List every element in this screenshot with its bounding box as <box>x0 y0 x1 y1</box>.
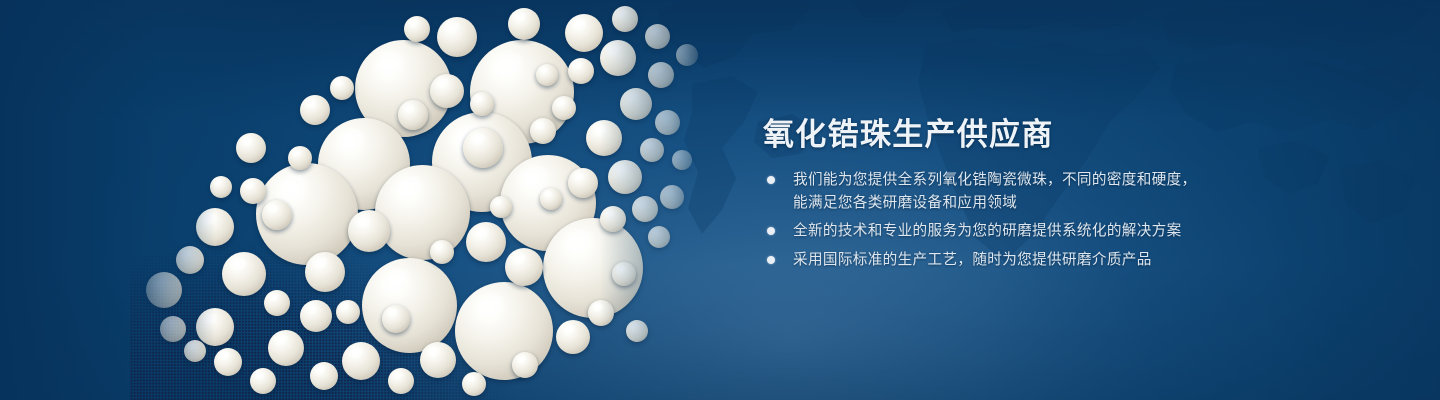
bullet-dot-icon <box>767 227 775 235</box>
list-item-line: 全新的技术和专业的服务为您的研磨提供系统化的解决方案 <box>793 221 1403 243</box>
page-title: 氧化锆珠生产供应商 <box>763 109 1054 154</box>
list-item: 采用国际标准的生产工艺，随时为您提供研磨介质产品 <box>763 250 1403 272</box>
list-item: 全新的技术和专业的服务为您的研磨提供系统化的解决方案 <box>763 221 1403 243</box>
list-item-line: 采用国际标准的生产工艺，随时为您提供研磨介质产品 <box>793 250 1403 272</box>
feature-list: 我们能为您提供全系列氧化锆陶瓷微珠，不同的密度和硬度， 能满足您各类研磨设备和应… <box>763 170 1403 278</box>
list-item-line: 能满足您各类研磨设备和应用领域 <box>793 193 1403 215</box>
list-item: 我们能为您提供全系列氧化锆陶瓷微珠，不同的密度和硬度， 能满足您各类研磨设备和应… <box>763 170 1403 214</box>
hero-banner: 氧化锆珠生产供应商 我们能为您提供全系列氧化锆陶瓷微珠，不同的密度和硬度， 能满… <box>0 0 1440 400</box>
bullet-dot-icon <box>767 256 775 264</box>
list-item-line: 我们能为您提供全系列氧化锆陶瓷微珠，不同的密度和硬度， <box>793 170 1403 192</box>
bullet-dot-icon <box>767 176 775 184</box>
zirconia-beads-image <box>0 0 720 400</box>
banner-text-block: 氧化锆珠生产供应商 我们能为您提供全系列氧化锆陶瓷微珠，不同的密度和硬度， 能满… <box>763 0 1403 400</box>
